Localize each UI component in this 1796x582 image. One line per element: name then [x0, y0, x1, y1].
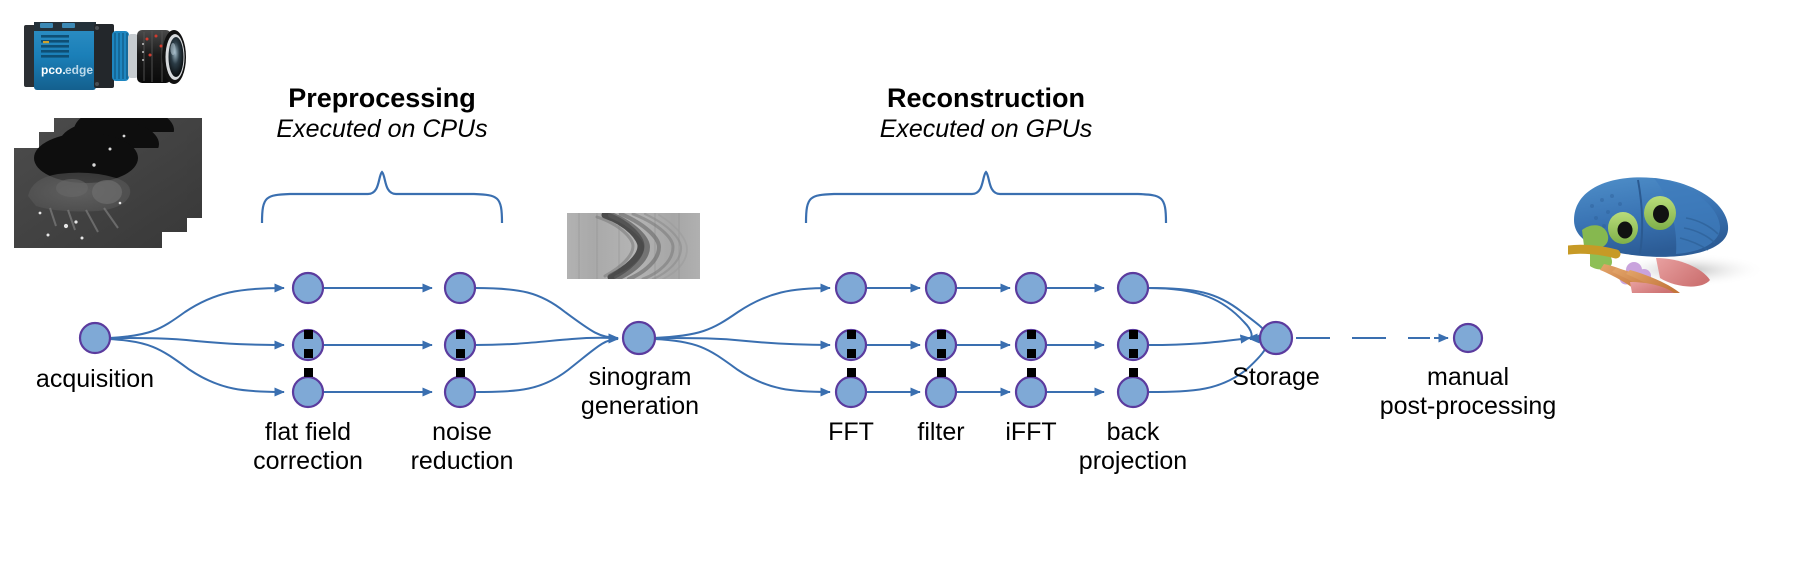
- label-sinogram-generation-line2: generation: [540, 392, 740, 421]
- ellipsis-ifft: [1027, 330, 1036, 377]
- group-subtitle-reconstruction: Executed on GPUs: [806, 115, 1166, 144]
- group-subtitle-preprocessing: Executed on CPUs: [202, 115, 562, 144]
- label-flat-field-correction-line2: correction: [218, 447, 398, 476]
- label-noise-reduction-line2: reduction: [372, 447, 552, 476]
- label-sinogram-generation: sinogram generation: [540, 363, 740, 421]
- node-noise-reduction-n: [445, 377, 475, 407]
- label-acquisition: acquisition: [0, 365, 195, 394]
- ellipsis-flat-field-correction: [304, 330, 313, 377]
- group-title-preprocessing: Preprocessing: [202, 83, 562, 114]
- node-ifft-n: [1016, 377, 1046, 407]
- node-ifft-1: [1016, 273, 1046, 303]
- volume-rendering-image: [1568, 158, 1783, 293]
- ellipsis-back-projection: [1129, 330, 1138, 377]
- node-filter-1: [926, 273, 956, 303]
- label-manual-post-processing: manual post-processing: [1348, 363, 1588, 421]
- node-flat-field-correction-n: [293, 377, 323, 407]
- svg-text:edge: edge: [65, 63, 93, 77]
- ellipsis-fft: [847, 330, 856, 377]
- node-flat-field-correction-1: [293, 273, 323, 303]
- svg-text:pco.: pco.: [41, 63, 66, 77]
- node-acquisition: [80, 323, 110, 353]
- node-back-projection-n: [1118, 377, 1148, 407]
- node-storage: [1260, 322, 1292, 354]
- node-noise-reduction-1: [445, 273, 475, 303]
- node-back-projection-1: [1118, 273, 1148, 303]
- label-back-projection-line1: back: [1053, 418, 1213, 447]
- node-filter-n: [926, 377, 956, 407]
- label-flat-field-correction-line1: flat field: [218, 418, 398, 447]
- label-noise-reduction: noise reduction: [372, 418, 552, 476]
- group-title-reconstruction: Reconstruction: [806, 83, 1166, 114]
- node-fft-n: [836, 377, 866, 407]
- diagram-canvas: pco. edge: [0, 0, 1796, 582]
- brace-preprocessing: [262, 172, 502, 223]
- node-sinogram-generation: [623, 322, 655, 354]
- sinogram-image: [567, 213, 700, 279]
- brace-reconstruction: [806, 172, 1166, 223]
- label-sinogram-generation-line1: sinogram: [540, 363, 740, 392]
- label-noise-reduction-line1: noise: [372, 418, 552, 447]
- ellipsis-noise-reduction: [456, 330, 465, 377]
- camera-image: pco. edge: [10, 8, 205, 108]
- label-storage: Storage: [1186, 363, 1366, 392]
- ellipsis-filter: [937, 330, 946, 377]
- label-manual-post-processing-line1: manual: [1348, 363, 1588, 392]
- label-manual-post-processing-line2: post-processing: [1348, 392, 1588, 421]
- node-manual-post-processing: [1454, 324, 1482, 352]
- label-back-projection-line2: projection: [1053, 447, 1213, 476]
- label-back-projection: back projection: [1053, 418, 1213, 476]
- label-flat-field-correction: flat field correction: [218, 418, 398, 476]
- node-fft-1: [836, 273, 866, 303]
- projection-stack-image: [12, 118, 204, 250]
